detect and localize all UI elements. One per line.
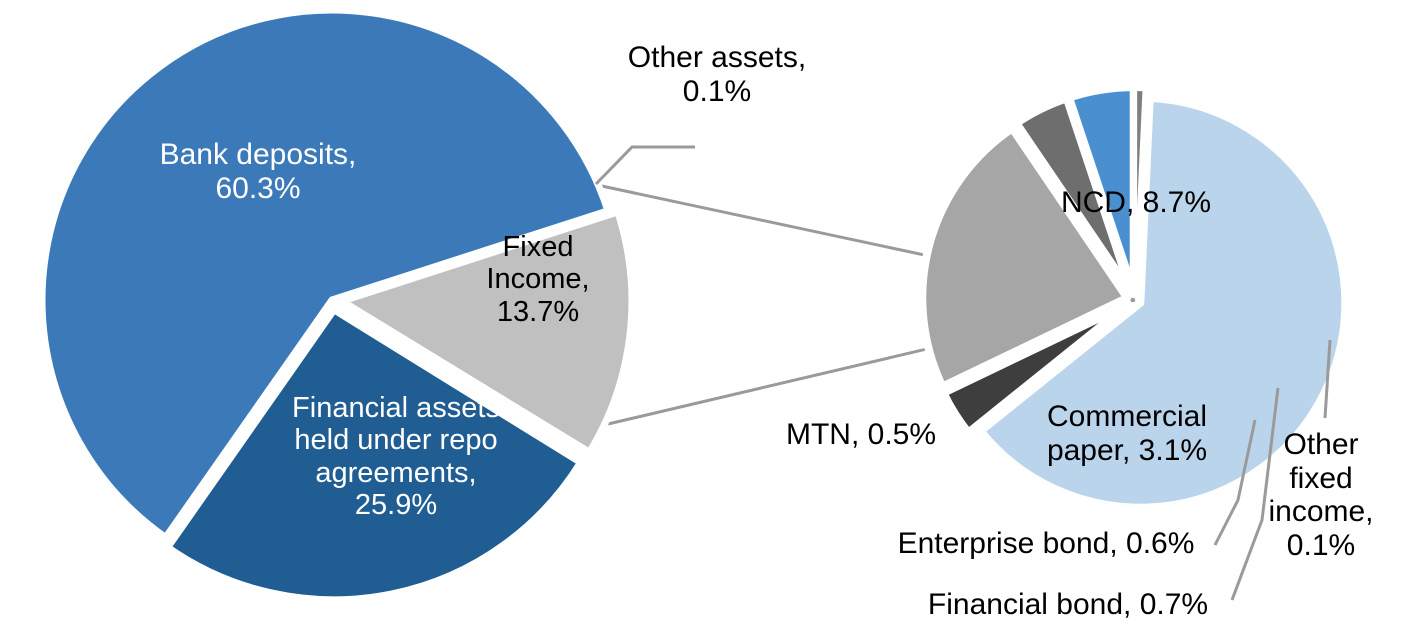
label-bank-deposits: Bank deposits, 60.3% [128, 138, 388, 205]
leader-line-other-assets [596, 147, 695, 184]
chart-canvas: Bank deposits, 60.3% Financial assets he… [0, 0, 1404, 644]
label-ncd: NCD, 8.7% [1028, 186, 1244, 220]
label-commercial-paper: Commercial paper, 3.1% [1032, 400, 1222, 467]
label-other-fixed-income: Other fixed income, 0.1% [1258, 428, 1384, 562]
label-financial-bond: Financial bond, 0.7% [900, 588, 1236, 622]
label-other-assets: Other assets, 0.1% [601, 41, 833, 108]
label-fixed-income: Fixed Income, 13.7% [470, 231, 606, 328]
label-mtn: MTN, 0.5% [766, 418, 956, 452]
label-enterprise-bond: Enterprise bond, 0.6% [872, 527, 1220, 561]
label-repo-agreements: Financial assets held under repo agreeme… [262, 392, 530, 522]
